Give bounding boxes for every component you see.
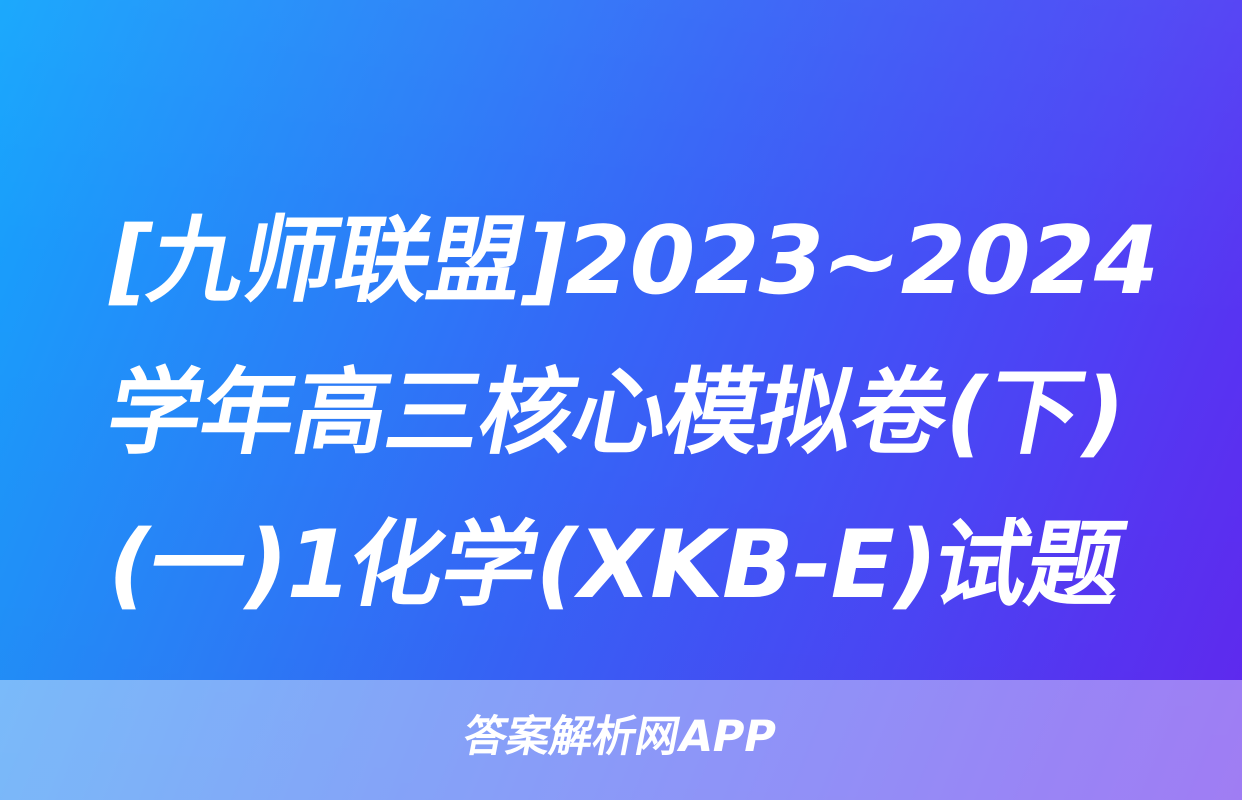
page-title: [九师联盟]2023~2024 学年高三核心模拟卷(下) (一)1化学(XKB-… [0, 186, 1242, 642]
watermark: 答案解析网APP [0, 700, 1242, 766]
title-line-2: 学年高三核心模拟卷(下) [94, 338, 1186, 490]
watermark-label: 答案解析网APP [459, 702, 782, 764]
title-line-1: [九师联盟]2023~2024 [94, 186, 1186, 338]
exam-paper-cover-card: [九师联盟]2023~2024 学年高三核心模拟卷(下) (一)1化学(XKB-… [0, 0, 1242, 800]
title-line-3: (一)1化学(XKB-E)试题 [94, 490, 1186, 642]
